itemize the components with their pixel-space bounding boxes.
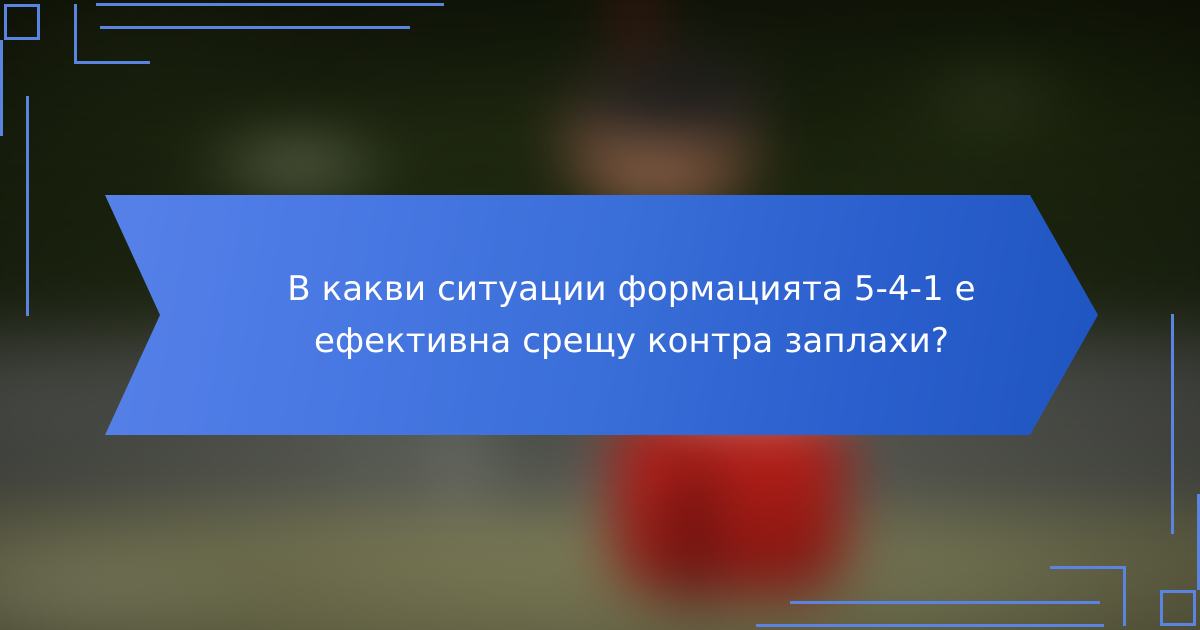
corner-horizontal-long <box>756 624 1104 627</box>
corner-edge-vertical <box>0 76 3 136</box>
social-card: В какви ситуации формацията 5-4-1 е ефек… <box>0 0 1200 630</box>
corner-frame-top-left <box>0 0 200 170</box>
corner-long-vertical <box>1171 314 1174 534</box>
corner-long-vertical <box>26 96 29 316</box>
corner-square-icon <box>4 4 40 40</box>
corner-vertical-stub <box>0 40 3 76</box>
corner-horizontal-long <box>96 3 444 6</box>
corner-elbow-vertical <box>1123 566 1126 626</box>
corner-elbow-horizontal <box>74 61 150 64</box>
corner-elbow-vertical <box>74 4 77 64</box>
corner-elbow-horizontal <box>1050 566 1126 569</box>
headline-text: В какви ситуации формацията 5-4-1 е ефек… <box>252 263 1012 367</box>
corner-frame-bottom-right <box>1000 460 1200 630</box>
headline-ribbon: В какви ситуации формацията 5-4-1 е ефек… <box>105 195 1098 435</box>
corner-horizontal-short <box>790 601 1100 604</box>
corner-square-icon <box>1160 590 1196 626</box>
corner-horizontal-short <box>100 26 410 29</box>
